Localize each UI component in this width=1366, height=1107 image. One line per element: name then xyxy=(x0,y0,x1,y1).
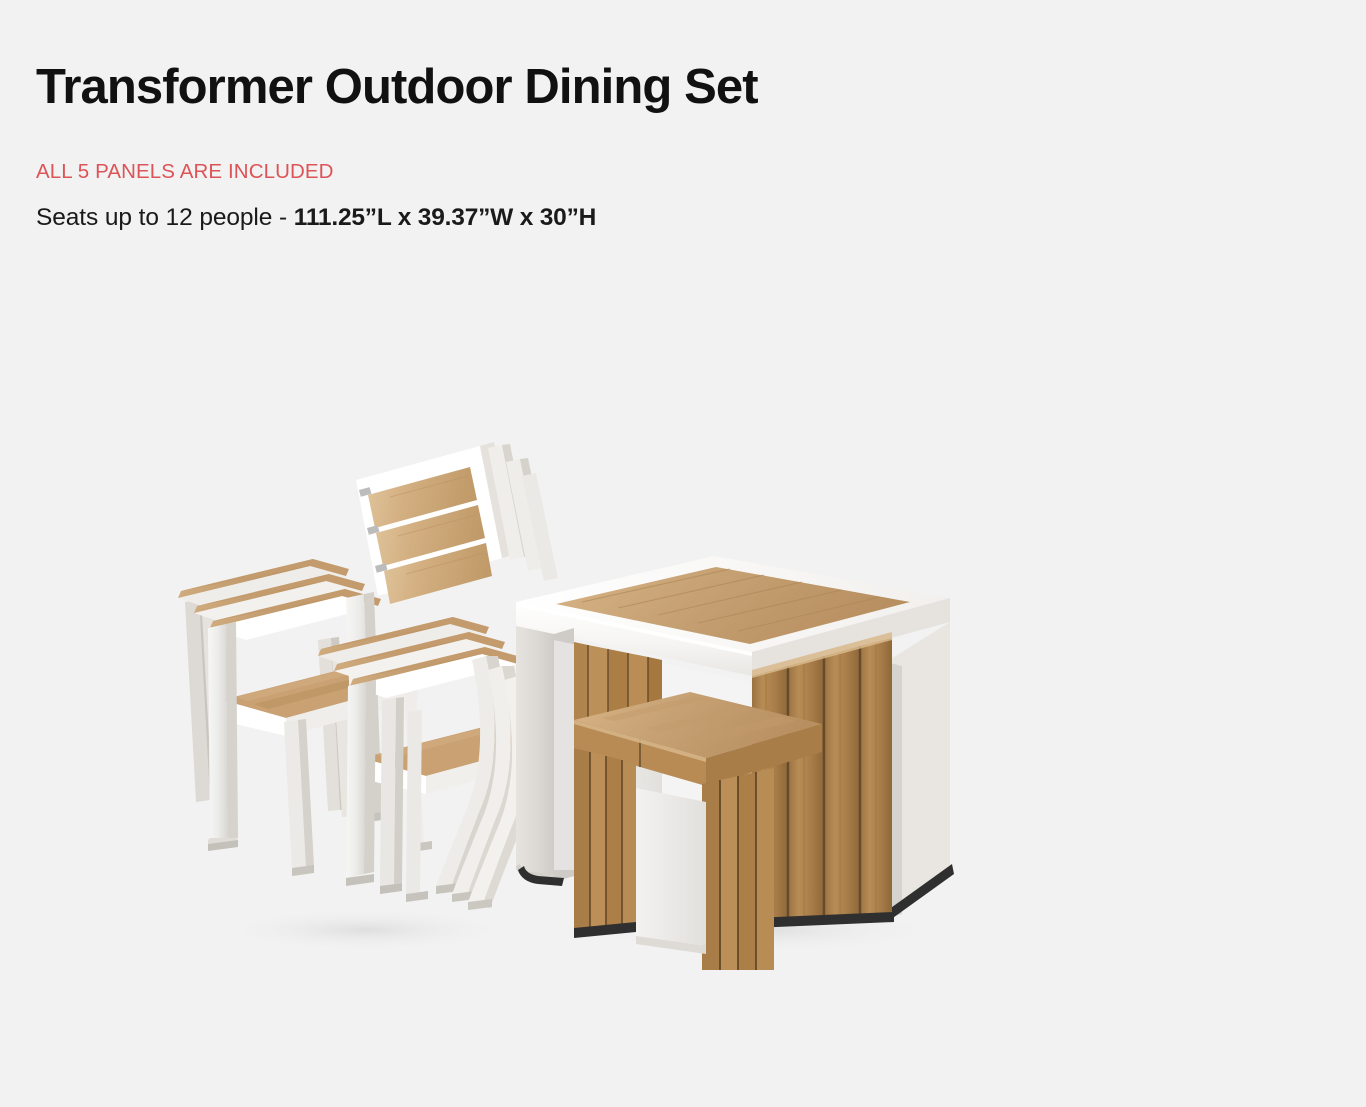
table-left-leg xyxy=(516,626,554,882)
chairs-shadow xyxy=(215,908,515,952)
panels-included-note: ALL 5 PANELS ARE INCLUDED xyxy=(36,113,1036,185)
stacked-chairs xyxy=(178,442,558,910)
seats-and-dimensions: Seats up to 12 people - 111.25”L x 39.37… xyxy=(36,185,1036,232)
seats-prefix-text: Seats up to 12 people - xyxy=(36,204,294,231)
page-title: Transformer Outdoor Dining Set xyxy=(36,62,1036,113)
dimensions-text: 111.25”L x 39.37”W x 30”H xyxy=(294,204,596,231)
product-photo xyxy=(150,370,1050,970)
product-page: Transformer Outdoor Dining Set ALL 5 PAN… xyxy=(0,0,1366,1107)
chair-backrest xyxy=(356,442,558,604)
product-text-block: Transformer Outdoor Dining Set ALL 5 PAN… xyxy=(36,62,1036,232)
table-inner-front-panel xyxy=(636,788,706,946)
product-illustration xyxy=(150,370,1050,970)
transformer-console-table xyxy=(516,556,954,970)
